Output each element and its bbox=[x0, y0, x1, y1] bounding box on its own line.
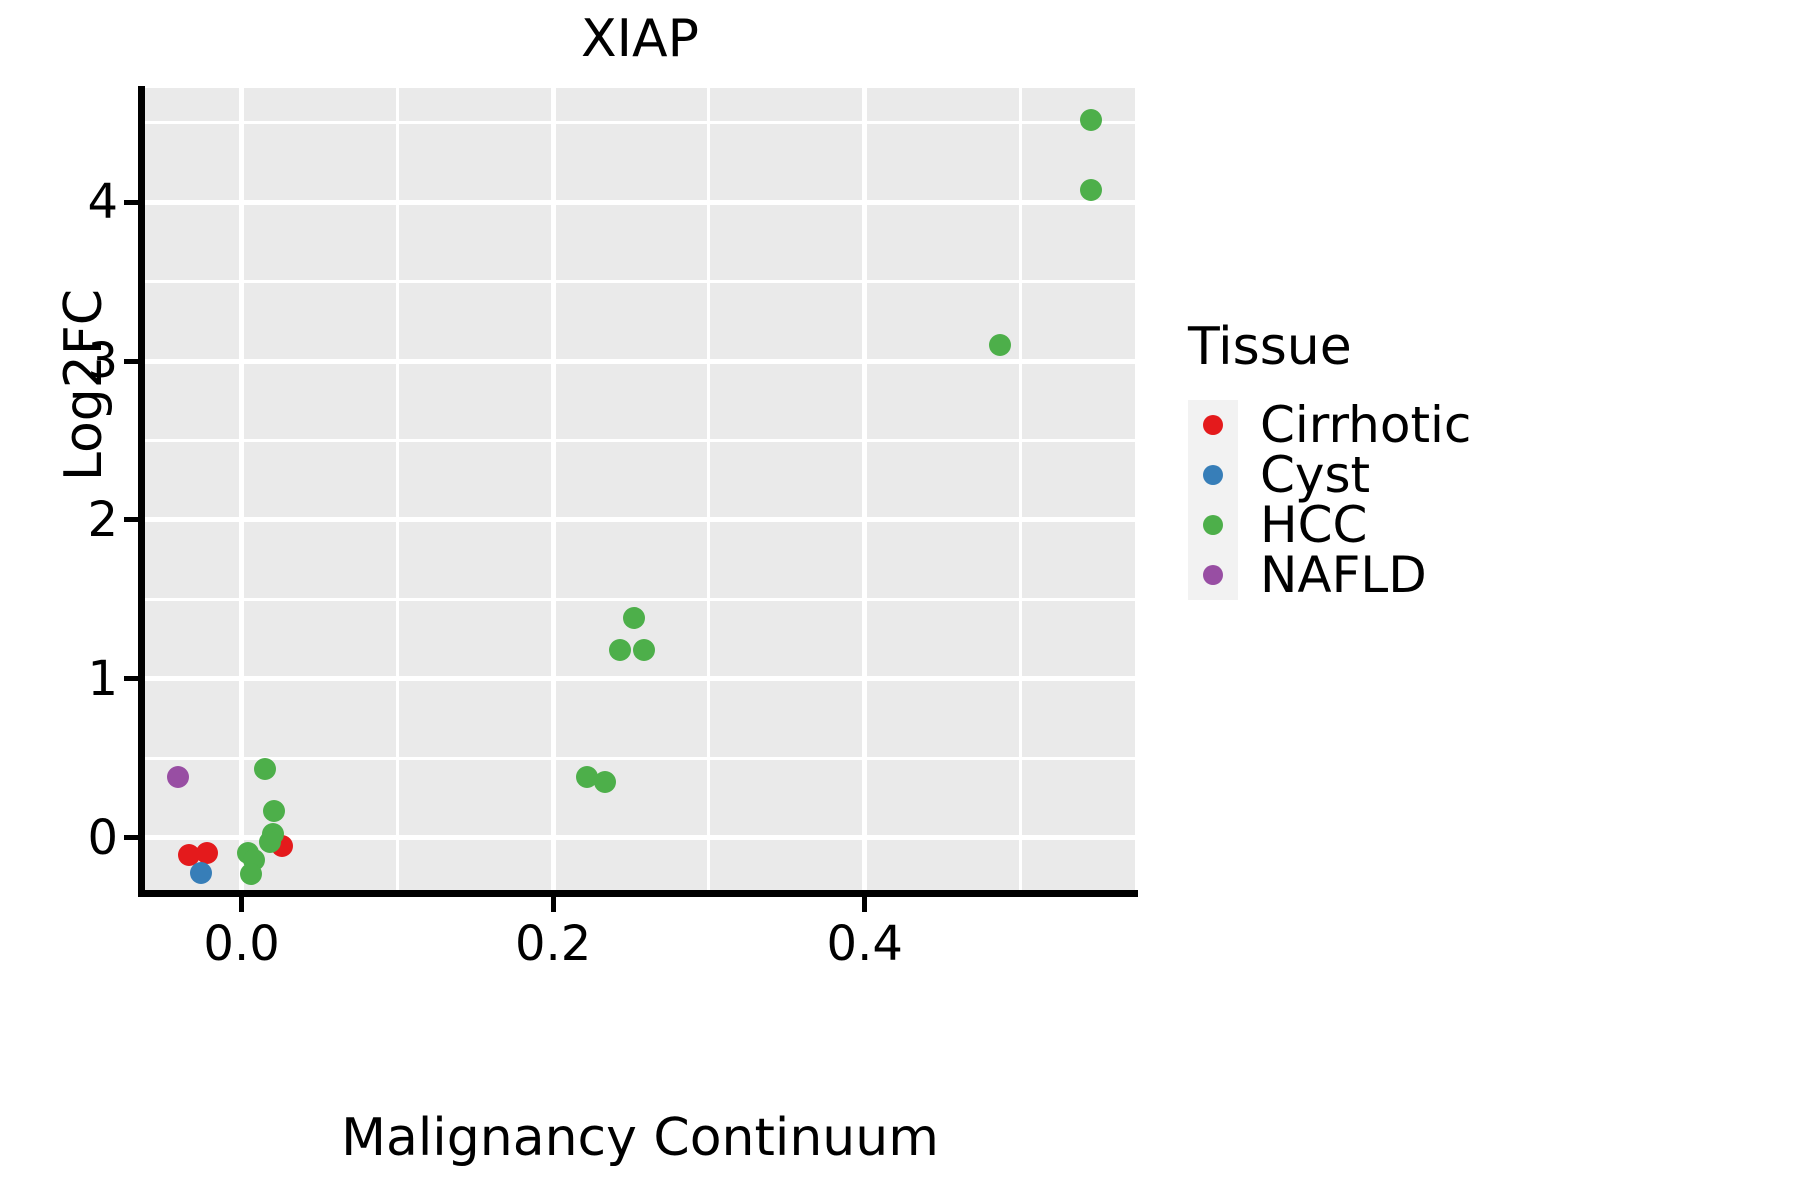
y-axis-tick bbox=[124, 517, 139, 522]
y-axis-tick bbox=[124, 359, 139, 364]
y-axis-tick bbox=[124, 676, 139, 681]
gridline-minor-vertical bbox=[396, 88, 399, 890]
data-point bbox=[259, 831, 281, 853]
legend-item-nafld[interactable]: NAFLD bbox=[1188, 550, 1608, 600]
legend-item-label: HCC bbox=[1260, 500, 1367, 550]
legend-key-swatch bbox=[1188, 450, 1238, 500]
plot-panel bbox=[145, 88, 1135, 890]
legend-item-hcc[interactable]: HCC bbox=[1188, 500, 1608, 550]
legend-key-swatch bbox=[1188, 500, 1238, 550]
legend-item-label: Cyst bbox=[1260, 450, 1370, 500]
gridline-minor-vertical bbox=[1019, 88, 1022, 890]
x-axis-tick bbox=[551, 897, 556, 912]
y-axis-tick-label: 0 bbox=[18, 814, 118, 862]
y-axis-tick-label: 2 bbox=[18, 496, 118, 544]
data-point bbox=[240, 863, 262, 885]
scatter-plot-figure: XIAP Log2FC 01234 0.00.20.4 Malignancy C… bbox=[0, 0, 1800, 1200]
legend-item-cirrhotic[interactable]: Cirrhotic bbox=[1188, 400, 1608, 450]
legend-point-icon bbox=[1203, 515, 1223, 535]
y-axis-tick-label: 3 bbox=[18, 337, 118, 385]
data-point bbox=[594, 771, 616, 793]
y-axis-line bbox=[138, 86, 145, 892]
page-title: XIAP bbox=[145, 8, 1135, 70]
x-axis-tick bbox=[239, 897, 244, 912]
gridline-minor-horizontal bbox=[145, 757, 1135, 760]
data-point bbox=[633, 639, 655, 661]
legend-key-swatch bbox=[1188, 400, 1238, 450]
data-point bbox=[1080, 179, 1102, 201]
data-point bbox=[167, 766, 189, 788]
legend-point-icon bbox=[1203, 465, 1223, 485]
x-axis-line bbox=[138, 890, 1138, 897]
data-point bbox=[609, 639, 631, 661]
data-point bbox=[1080, 109, 1102, 131]
gridline-major-horizontal bbox=[145, 676, 1135, 681]
x-axis-tick-label: 0.2 bbox=[473, 916, 633, 972]
x-axis-tick-label: 0.0 bbox=[162, 916, 322, 972]
gridline-major-horizontal bbox=[145, 835, 1135, 840]
gridline-minor-vertical bbox=[707, 88, 710, 890]
y-axis-tick-label: 1 bbox=[18, 655, 118, 703]
data-point bbox=[623, 607, 645, 629]
gridline-major-vertical bbox=[862, 88, 867, 890]
data-point bbox=[254, 758, 276, 780]
data-point bbox=[190, 862, 212, 884]
legend: Tissue CirrhoticCystHCCNAFLD bbox=[1188, 316, 1608, 600]
gridline-major-horizontal bbox=[145, 517, 1135, 522]
legend-items: CirrhoticCystHCCNAFLD bbox=[1188, 400, 1608, 600]
y-axis-tick bbox=[124, 200, 139, 205]
gridline-major-horizontal bbox=[145, 359, 1135, 364]
legend-item-label: Cirrhotic bbox=[1260, 400, 1471, 450]
data-point bbox=[989, 334, 1011, 356]
gridline-major-vertical bbox=[239, 88, 244, 890]
y-axis-tick-label: 4 bbox=[18, 178, 118, 226]
gridline-minor-horizontal bbox=[145, 121, 1135, 124]
x-axis-title: Malignancy Continuum bbox=[145, 1108, 1135, 1168]
x-axis-tick bbox=[862, 897, 867, 912]
y-axis-tick bbox=[124, 835, 139, 840]
legend-item-label: NAFLD bbox=[1260, 550, 1427, 600]
gridline-major-vertical bbox=[551, 88, 556, 890]
legend-item-cyst[interactable]: Cyst bbox=[1188, 450, 1608, 500]
legend-key-swatch bbox=[1188, 550, 1238, 600]
data-point bbox=[263, 800, 285, 822]
x-axis-tick-label: 0.4 bbox=[785, 916, 945, 972]
legend-point-icon bbox=[1203, 415, 1223, 435]
gridline-minor-horizontal bbox=[145, 439, 1135, 442]
legend-title: Tissue bbox=[1188, 316, 1608, 378]
gridline-minor-horizontal bbox=[145, 598, 1135, 601]
gridline-major-horizontal bbox=[145, 200, 1135, 205]
gridline-minor-horizontal bbox=[145, 280, 1135, 283]
legend-point-icon bbox=[1203, 565, 1223, 585]
